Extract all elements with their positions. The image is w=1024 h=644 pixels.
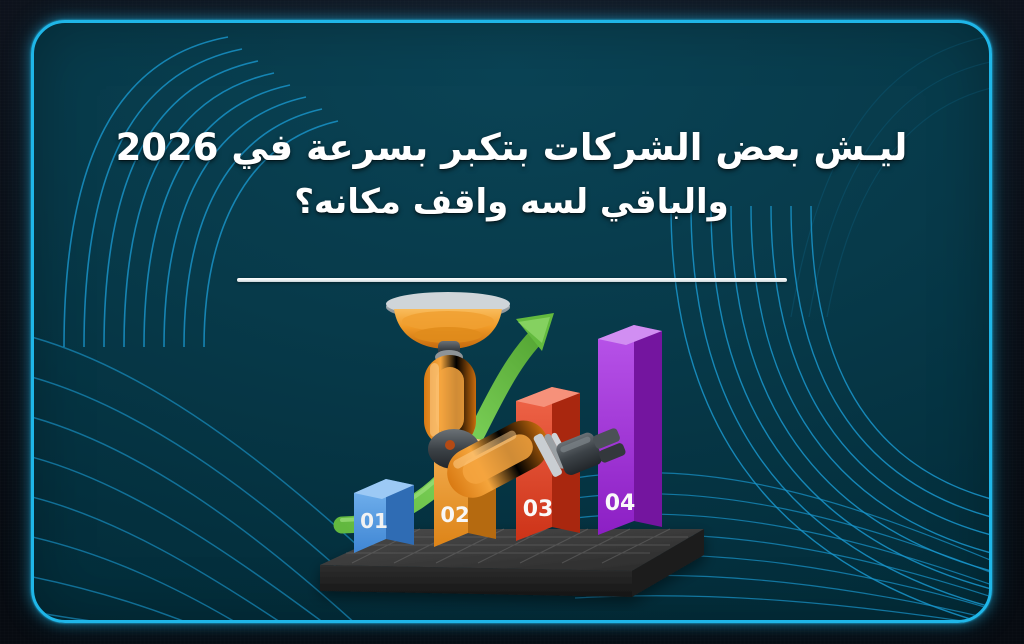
poster-card: ليـش بعض الشركات بتكبر بسرعة في 2026 وال…	[31, 20, 992, 623]
bar-label-03: 03	[522, 497, 553, 522]
bar-label-01: 01	[360, 509, 388, 533]
page-title-line-2: والباقي لسه واقف مكانه؟	[34, 176, 989, 229]
bar-label-02: 02	[440, 503, 469, 527]
robot-arm	[386, 292, 627, 507]
illustration-robot-growth-chart: 01 02 03 04	[302, 279, 722, 611]
bar-04: 04	[598, 325, 662, 535]
poster-canvas: ليـش بعض الشركات بتكبر بسرعة في 2026 وال…	[0, 0, 1024, 644]
page-title-line-1: ليـش بعض الشركات بتكبر بسرعة في 2026	[34, 119, 989, 176]
bar-label-04: 04	[604, 491, 635, 516]
heading-block: ليـش بعض الشركات بتكبر بسرعة في 2026 وال…	[34, 119, 989, 229]
